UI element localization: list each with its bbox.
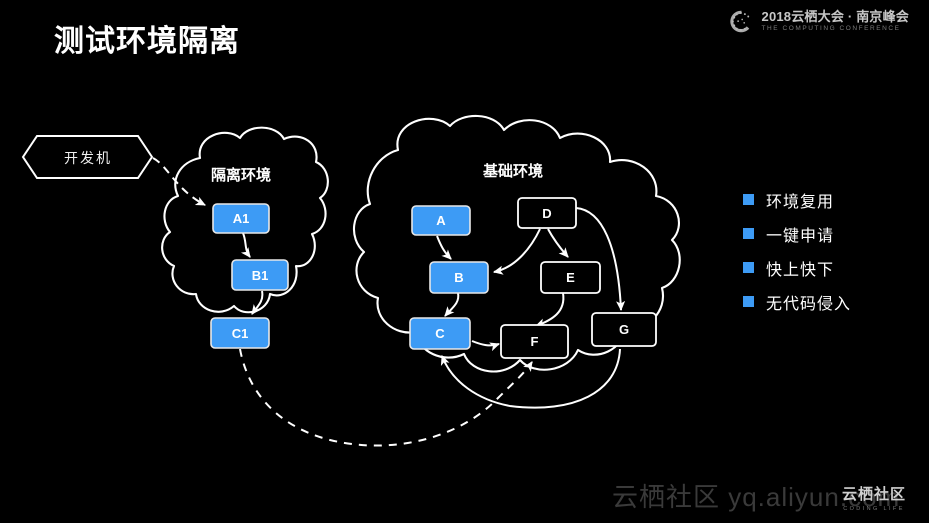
node-c1[interactable] (211, 318, 269, 348)
bullet-item-0: 环境复用 (743, 188, 851, 211)
bullet-label-1: 一键申请 (766, 222, 834, 246)
edge-a-to-b (437, 236, 451, 259)
slide-root: 测试环境隔离 2018云栖大会 · 南京峰会 THE COMPUTING CON… (0, 0, 929, 523)
edge-d-to-e (548, 229, 568, 257)
watermark-logo-title: 云栖社区 (833, 483, 915, 504)
edge-e-to-f (536, 293, 563, 326)
cloud-title-base: 基础环境 (453, 160, 573, 181)
node-g[interactable] (592, 313, 656, 346)
bullet-label-0: 环境复用 (766, 188, 834, 212)
node-f[interactable] (501, 325, 568, 358)
watermark-logo: 云栖社区 CODING LIFE (833, 483, 915, 512)
node-a[interactable] (412, 206, 470, 235)
bullet-square-icon (743, 228, 754, 239)
dev-machine-label: 开发机 (23, 148, 153, 168)
cloud-title-isolated: 隔离环境 (185, 164, 297, 185)
edge-d-to-b (494, 229, 540, 272)
bullet-square-icon (743, 262, 754, 273)
node-c[interactable] (410, 318, 470, 349)
edge-d-to-g (576, 208, 621, 310)
edge-a1-to-b1 (243, 233, 250, 257)
bullet-label-3: 无代码侵入 (766, 290, 851, 314)
edge-c-to-f (472, 341, 499, 345)
node-e[interactable] (541, 262, 600, 293)
edge-b-to-c (445, 293, 458, 316)
feature-bullet-list: 环境复用 一键申请 快上快下 无代码侵入 (743, 188, 851, 313)
bullet-label-2: 快上快下 (766, 256, 834, 280)
bullet-square-icon (743, 296, 754, 307)
node-b1[interactable] (232, 260, 288, 290)
node-d[interactable] (518, 198, 576, 228)
edge-c1-to-f (240, 349, 532, 446)
bullet-item-2: 快上快下 (743, 256, 851, 279)
bullet-square-icon (743, 194, 754, 205)
watermark-logo-subtitle: CODING LIFE (833, 506, 915, 512)
bullet-item-3: 无代码侵入 (743, 290, 851, 313)
node-a1[interactable] (213, 204, 269, 233)
node-b[interactable] (430, 262, 488, 293)
bullet-item-1: 一键申请 (743, 222, 851, 245)
